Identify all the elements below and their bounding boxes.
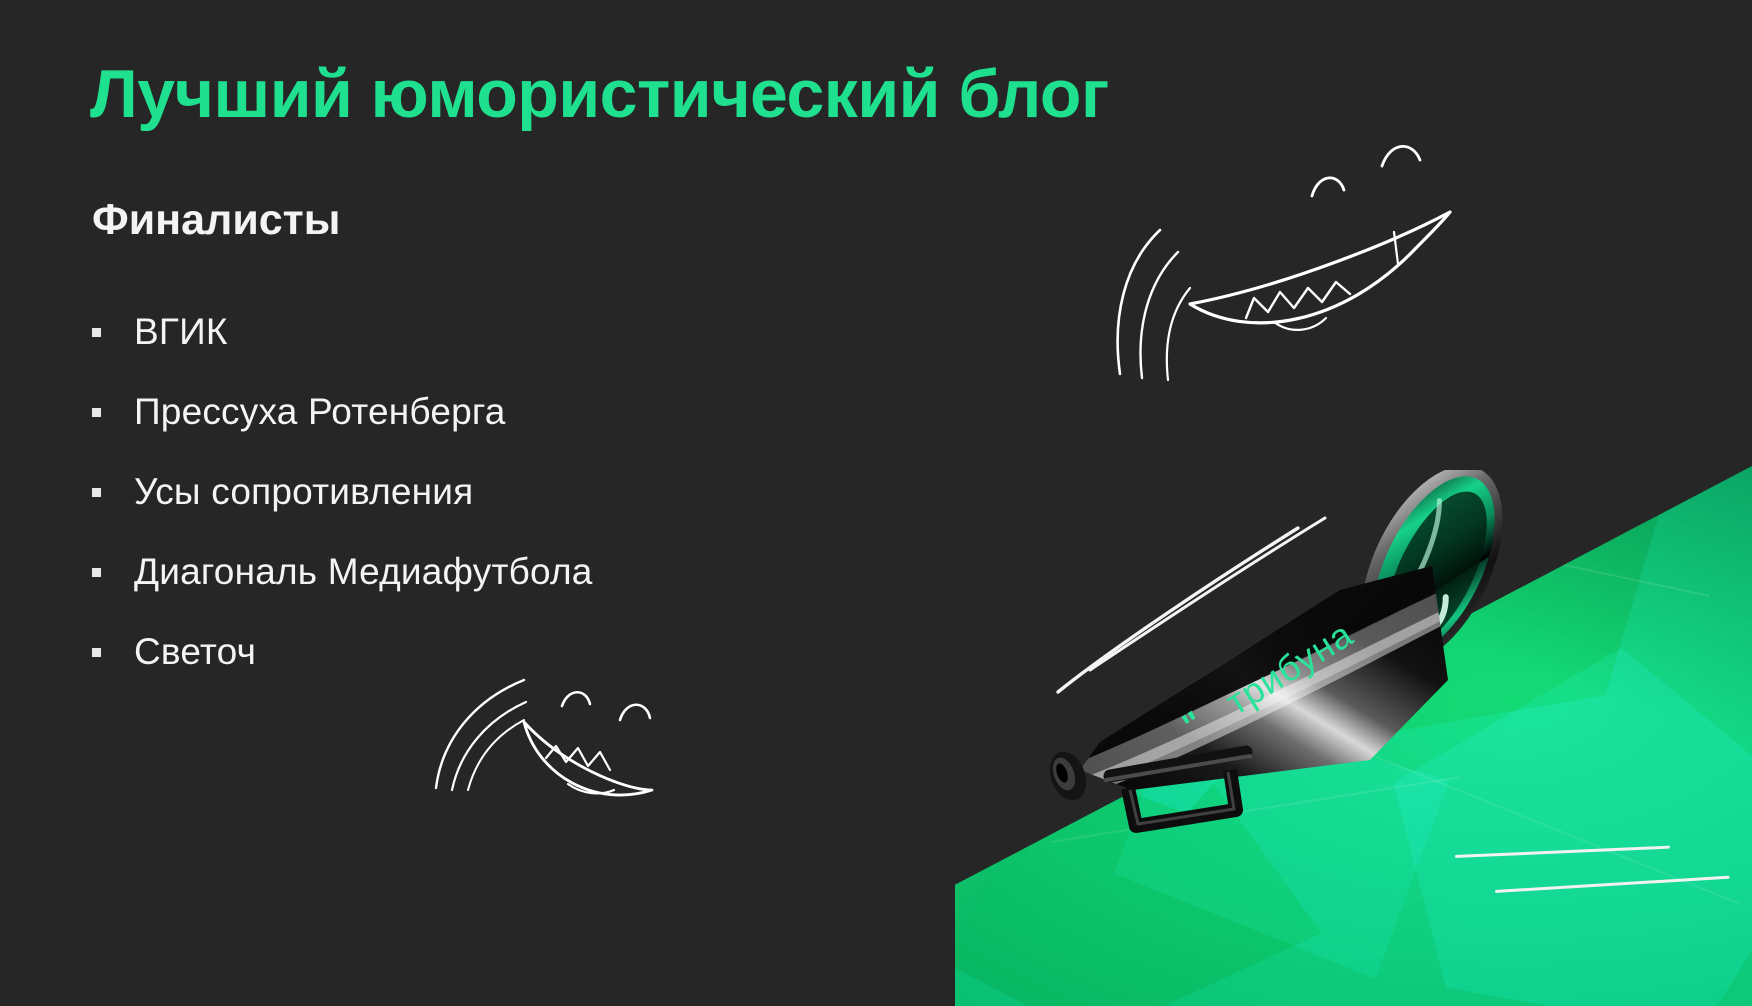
finalist-label: Светоч: [134, 631, 256, 673]
laughing-face-large-icon: [1098, 112, 1468, 382]
finalists-list: ВГИК Прессуха Ротенберга Усы сопротивлен…: [92, 292, 972, 692]
square-bullet-icon: [92, 408, 101, 417]
megaphone-mouthpiece: [1043, 747, 1092, 806]
finalist-label: Диагональ Медиафутбола: [134, 551, 593, 593]
list-item: Диагональ Медиафутбола: [92, 532, 972, 612]
megaphone-illustration: трибуна ": [1040, 470, 1560, 860]
list-item: Светоч: [92, 612, 972, 692]
list-item: Прессуха Ротенберга: [92, 372, 972, 452]
square-bullet-icon: [92, 568, 101, 577]
square-bullet-icon: [92, 648, 101, 657]
finalist-label: Усы сопротивления: [134, 471, 473, 513]
list-item: Усы сопротивления: [92, 452, 972, 532]
square-bullet-icon: [92, 488, 101, 497]
page-title: Лучший юмористический блог: [90, 55, 1109, 133]
section-subtitle: Финалисты: [92, 196, 340, 245]
presentation-slide: трибуна ": [0, 0, 1752, 1006]
square-bullet-icon: [92, 328, 101, 337]
list-item: ВГИК: [92, 292, 972, 372]
finalist-label: Прессуха Ротенберга: [134, 391, 506, 433]
finalist-label: ВГИК: [134, 311, 228, 353]
